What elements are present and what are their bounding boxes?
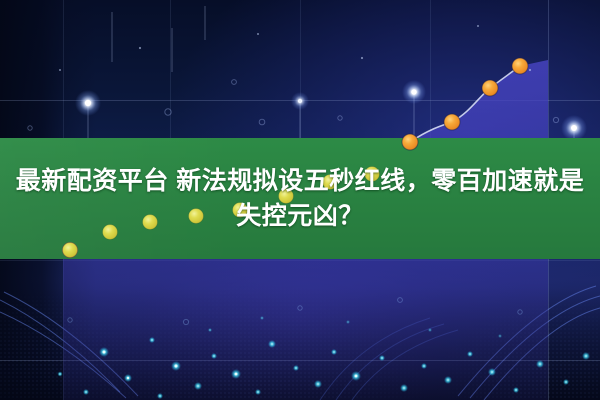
headline-line-2: 失控元凶？ xyxy=(236,199,364,234)
headline-line-1: 最新配资平台 新法规拟设五秒红线，零百加速就是 xyxy=(16,164,584,199)
banner-image: 最新配资平台 新法规拟设五秒红线，零百加速就是 失控元凶？ xyxy=(0,0,600,400)
headline-text: 最新配资平台 新法规拟设五秒红线，零百加速就是 失控元凶？ xyxy=(0,138,600,259)
